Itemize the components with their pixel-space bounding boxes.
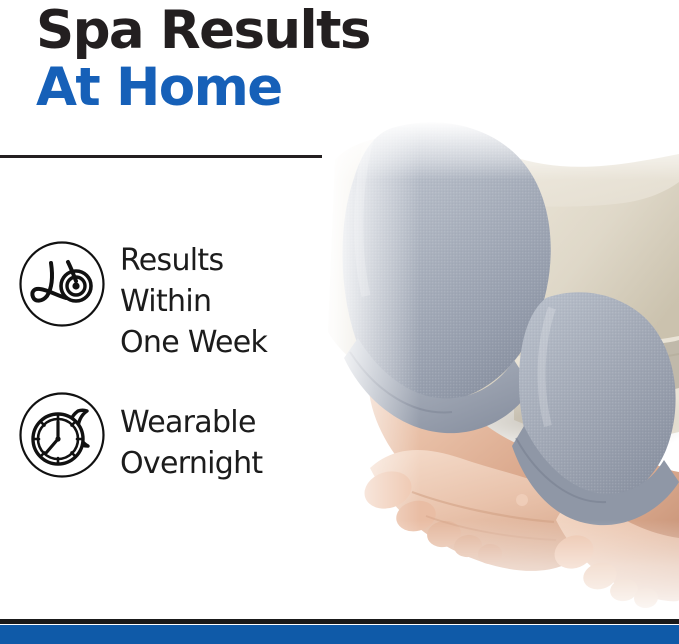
feature-line-2: Within — [120, 281, 267, 322]
feature-line-1: Wearable — [120, 402, 263, 443]
clock-moon-icon — [18, 391, 106, 479]
product-infographic: Spa Results At Home Results — [0, 0, 679, 644]
feature-line-2: Overnight — [120, 443, 263, 484]
icon-clock-center — [55, 436, 60, 441]
feature-item-wearable-overnight: Wearable Overnight — [18, 391, 358, 484]
headline-line-1: Spa Results — [36, 2, 456, 59]
heel-highlight — [516, 494, 528, 506]
footer-rule — [0, 619, 679, 624]
feature-label-wearable: Wearable Overnight — [120, 391, 263, 484]
feature-label-results: Results Within One Week — [120, 240, 267, 363]
headline: Spa Results At Home — [36, 2, 456, 116]
feature-item-results-within-one-week: Results Within One Week — [18, 240, 358, 363]
feature-line-3: One Week — [120, 322, 267, 363]
foot-pressure-point-icon — [18, 240, 106, 328]
headline-divider — [0, 155, 322, 158]
feature-list: Results Within One Week — [18, 240, 358, 512]
headline-line-2: At Home — [36, 59, 456, 116]
footer-blue-bar — [0, 625, 679, 644]
feature-line-1: Results — [120, 240, 267, 281]
icon-target-center-dot — [72, 282, 79, 289]
